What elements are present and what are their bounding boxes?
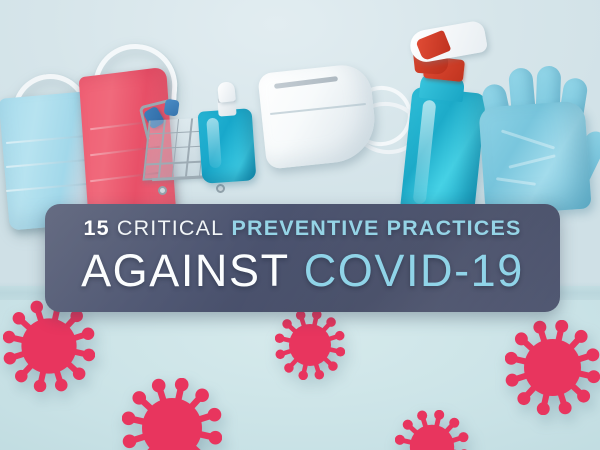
nitrile-glove: [470, 52, 600, 210]
bottle-body: [198, 108, 257, 184]
headline-word-against: AGAINST: [81, 245, 290, 296]
cart-wheel: [158, 186, 167, 195]
headline-line-2: AGAINST COVID-19: [45, 248, 560, 293]
virus-center: [275, 310, 345, 380]
kn95-respirator-mask: [262, 58, 388, 178]
virus-mid-left: [122, 378, 222, 450]
bottle-cap: [217, 81, 236, 103]
headline-word-critical: CRITICAL: [117, 216, 224, 240]
virus-bottom-right: [395, 410, 469, 450]
spray-nozzle-icon: [415, 30, 451, 62]
headline-line-1: 15 CRITICAL PREVENTIVE PRACTICES: [45, 218, 560, 240]
virus-top-left: [3, 300, 95, 392]
sanitizer-bottle: [196, 84, 258, 184]
headline-banner: 15 CRITICAL PREVENTIVE PRACTICES AGAINST…: [45, 204, 560, 312]
cart-wheel: [216, 184, 225, 193]
poster-canvas: 15 CRITICAL PREVENTIVE PRACTICES AGAINST…: [0, 0, 600, 450]
headline-word-covid19: COVID-19: [304, 245, 524, 296]
virus-right: [505, 320, 600, 415]
headline-word-preventive-practices: PREVENTIVE PRACTICES: [231, 216, 521, 240]
cart-grip-secondary: [164, 99, 180, 117]
headline-count: 15: [83, 216, 109, 240]
